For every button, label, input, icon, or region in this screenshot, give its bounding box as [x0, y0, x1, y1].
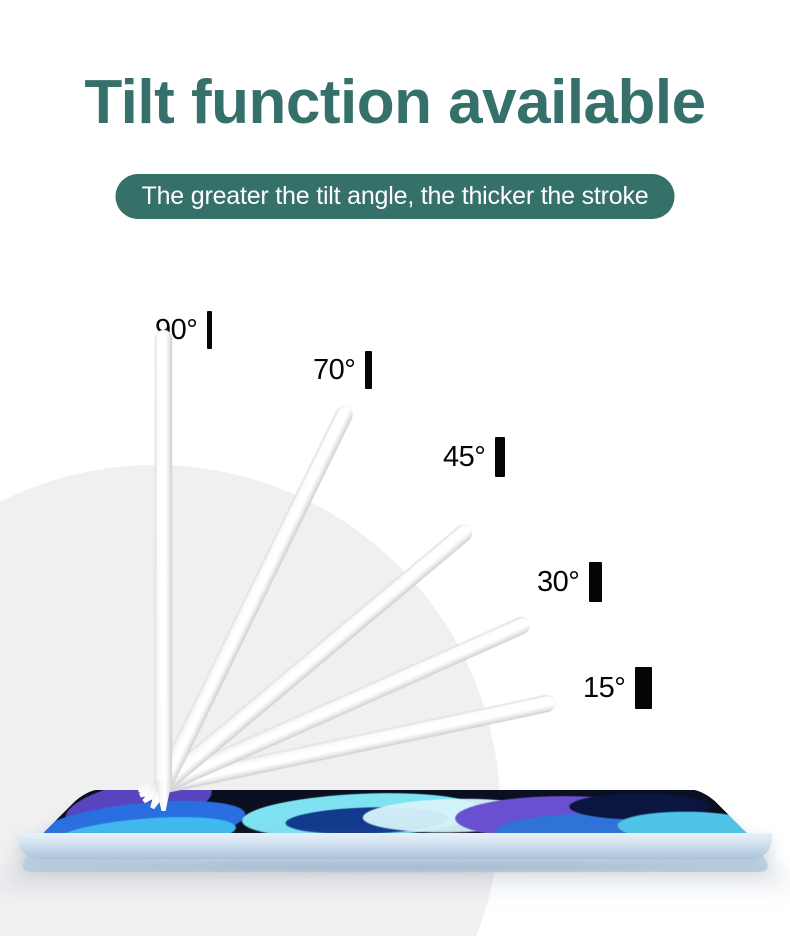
product-feature-banner: Tilt function available The greater the …	[0, 0, 790, 936]
angle-value-text: 45°	[443, 443, 485, 472]
tilt-illustration: 90°70°45°30°15°	[0, 240, 790, 936]
subtitle-text: The greater the tilt angle, the thicker …	[142, 184, 649, 209]
angle-label-30: 30°	[537, 562, 602, 602]
angle-value-text: 30°	[537, 568, 579, 597]
header: Tilt function available The greater the …	[0, 0, 790, 240]
stroke-thickness-bar	[589, 562, 602, 602]
angle-label-70: 70°	[313, 351, 372, 389]
angle-value-text: 70°	[313, 356, 355, 385]
stroke-thickness-bar	[495, 437, 505, 477]
tablet-shadow	[38, 859, 756, 875]
stroke-thickness-bar	[635, 667, 652, 709]
tablet-device	[8, 767, 782, 872]
stylus-90deg	[155, 330, 172, 785]
tablet-edge	[18, 833, 772, 859]
page-title: Tilt function available	[0, 72, 790, 134]
angle-value-text: 15°	[583, 674, 625, 703]
angle-label-15: 15°	[583, 667, 652, 709]
stroke-thickness-bar	[365, 351, 372, 389]
stroke-thickness-bar	[207, 311, 212, 349]
angle-label-45: 45°	[443, 437, 505, 477]
subtitle-badge: The greater the tilt angle, the thicker …	[116, 174, 675, 219]
